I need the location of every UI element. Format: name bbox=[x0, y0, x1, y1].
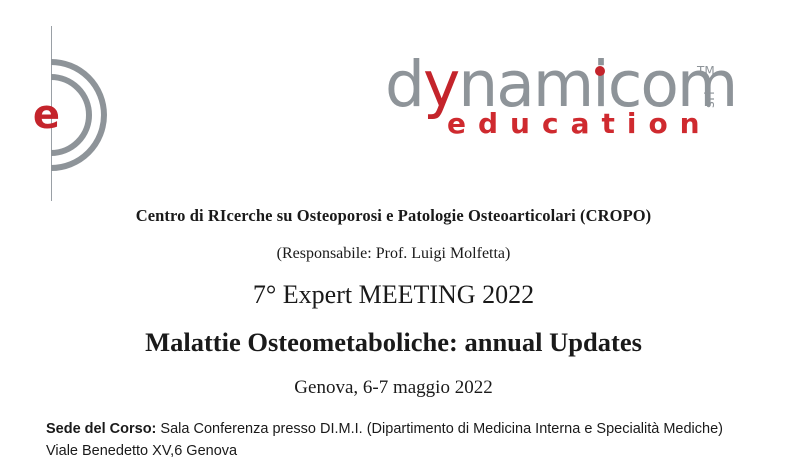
event-place-and-date: Genova, 6-7 maggio 2022 bbox=[0, 377, 787, 399]
dynamicom-red-dot-icon bbox=[595, 66, 605, 76]
venue-line-primary: Sede del Corso: Sala Conferenza presso D… bbox=[46, 418, 746, 440]
venue-block: Sede del Corso: Sala Conferenza presso D… bbox=[46, 418, 746, 462]
dynamicom-srl-label: srl bbox=[703, 91, 718, 108]
event-subtitle: Malattie Osteometaboliche: annual Update… bbox=[0, 327, 787, 358]
venue-address: Viale Benedetto XV,6 Genova bbox=[46, 440, 746, 462]
organization-director: (Responsabile: Prof. Luigi Molfetta) bbox=[0, 245, 787, 263]
event-title: 7° Expert MEETING 2022 bbox=[0, 280, 787, 310]
dynamicom-wordmark-d: d bbox=[385, 48, 423, 121]
dynamicom-education-logo: dynamicom TM education srl bbox=[385, 52, 735, 152]
organization-name: Centro di RIcerche su Osteoporosi e Pato… bbox=[0, 206, 787, 226]
cropo-letter-e-icon: e bbox=[28, 96, 64, 134]
cropo-concentric-arcs-icon bbox=[0, 0, 180, 200]
dynamicom-trademark-symbol: TM bbox=[697, 64, 715, 78]
document-header-band: e dynamicom TM education srl bbox=[0, 0, 787, 200]
dynamicom-education-tagline: education bbox=[447, 109, 712, 139]
venue-label: Sede del Corso: bbox=[46, 421, 156, 437]
venue-value: Sala Conferenza presso DI.M.I. (Dipartim… bbox=[156, 421, 723, 437]
cropo-logo: e bbox=[0, 0, 180, 200]
